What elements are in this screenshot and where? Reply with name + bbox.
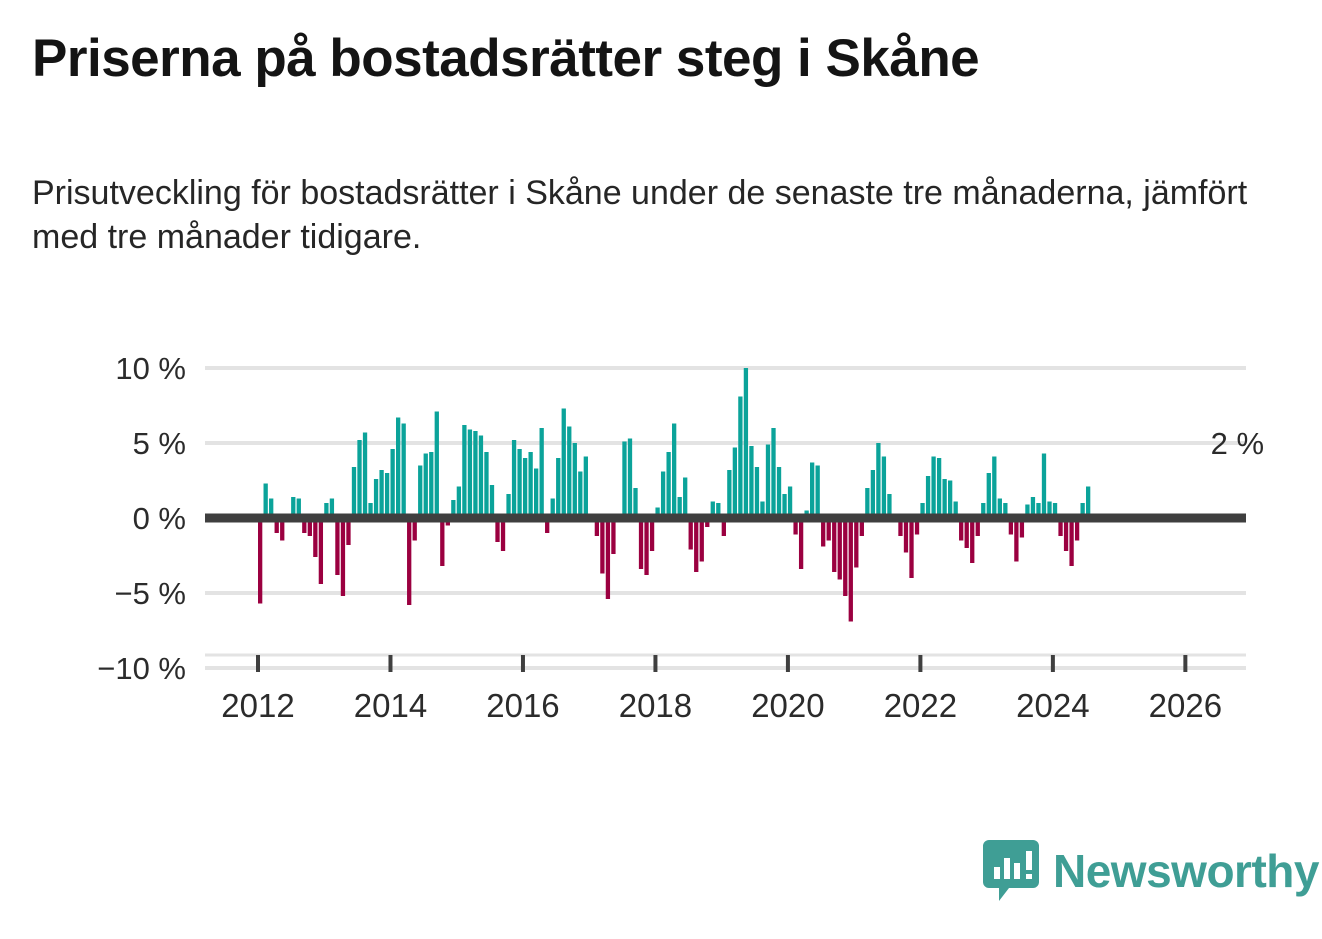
bar <box>435 412 439 519</box>
bar-series <box>258 368 1090 622</box>
bar <box>970 518 974 563</box>
bar <box>755 467 759 518</box>
bar <box>926 476 930 518</box>
bar <box>611 518 615 554</box>
bar <box>904 518 908 553</box>
bar <box>849 518 853 622</box>
bar <box>523 458 527 518</box>
bar <box>264 484 268 519</box>
bar <box>871 470 875 518</box>
bar <box>838 518 842 580</box>
bar <box>396 418 400 519</box>
x-axis-tick-label: 2018 <box>619 687 692 724</box>
x-axis-tick-label: 2016 <box>486 687 559 724</box>
bar-chart: 10 %5 %0 %−5 %−10 % 20122014201620182020… <box>0 330 1322 750</box>
bar <box>490 485 494 518</box>
bar <box>390 449 394 518</box>
bar <box>457 487 461 519</box>
bar <box>727 470 731 518</box>
x-axis-tick-label: 2026 <box>1149 687 1222 724</box>
bar <box>379 470 383 518</box>
bar <box>352 467 356 518</box>
bar <box>788 487 792 519</box>
bar <box>468 430 472 519</box>
logo-wordmark: Newsworthy <box>1053 848 1319 894</box>
bar <box>948 481 952 519</box>
bar <box>700 518 704 562</box>
bar <box>987 473 991 518</box>
y-axis-tick-label: −10 % <box>97 651 186 686</box>
bar <box>429 452 433 518</box>
bar <box>639 518 643 569</box>
bar <box>407 518 411 605</box>
bar <box>854 518 858 568</box>
bar <box>738 397 742 519</box>
bar <box>462 425 466 518</box>
bar <box>556 458 560 518</box>
bar <box>672 424 676 519</box>
x-axis-ticks: 20122014201620182020202220242026 <box>205 655 1246 724</box>
bar <box>666 452 670 518</box>
bar <box>385 473 389 518</box>
bar <box>937 458 941 518</box>
x-axis-tick-label: 2024 <box>1016 687 1089 724</box>
bar <box>573 443 577 518</box>
bar <box>1086 487 1090 519</box>
bar <box>816 466 820 519</box>
bar <box>650 518 654 551</box>
bar <box>341 518 345 596</box>
bar <box>1042 454 1046 519</box>
bar <box>418 466 422 519</box>
bar <box>799 518 803 569</box>
chart-svg: 10 %5 %0 %−5 %−10 % 20122014201620182020… <box>0 330 1322 750</box>
bar-chart-speech-bubble-icon <box>983 840 1039 902</box>
y-axis-ticks: 10 %5 %0 %−5 %−10 % <box>97 351 186 686</box>
bar <box>766 445 770 519</box>
bar <box>479 436 483 519</box>
bar <box>578 472 582 519</box>
bar <box>744 368 748 518</box>
y-axis-tick-label: 10 % <box>115 351 186 386</box>
bar <box>440 518 444 566</box>
bar <box>810 463 814 519</box>
bar <box>540 428 544 518</box>
bar <box>424 454 428 519</box>
bar <box>661 472 665 519</box>
bar <box>528 452 532 518</box>
x-axis-tick-label: 2022 <box>884 687 957 724</box>
bar <box>689 518 693 550</box>
bar <box>363 433 367 519</box>
x-axis-tick-label: 2014 <box>354 687 427 724</box>
bar <box>562 409 566 519</box>
bar <box>843 518 847 596</box>
bar <box>777 467 781 518</box>
bar <box>622 442 626 519</box>
bar <box>909 518 913 578</box>
bar <box>694 518 698 572</box>
bar <box>992 457 996 519</box>
chart-page: Priserna på bostadsrätter steg i Skåne P… <box>0 0 1322 939</box>
bar <box>644 518 648 575</box>
newsworthy-logo[interactable]: Newsworthy <box>983 840 1319 902</box>
bar <box>473 431 477 518</box>
bar <box>313 518 317 557</box>
bar <box>501 518 505 551</box>
value-annotation: 2 % <box>1211 426 1264 461</box>
bar <box>931 457 935 519</box>
bar <box>683 478 687 519</box>
bar <box>357 440 361 518</box>
bar <box>517 449 521 518</box>
bar <box>733 448 737 519</box>
bar <box>882 457 886 519</box>
bar <box>567 427 571 519</box>
bar <box>628 439 632 519</box>
y-axis-tick-label: 5 % <box>133 426 186 461</box>
page-title: Priserna på bostadsrätter steg i Skåne <box>32 30 979 87</box>
y-axis-tick-label: −5 % <box>114 576 186 611</box>
bar <box>749 446 753 518</box>
bar <box>1069 518 1073 566</box>
x-axis-tick-label: 2012 <box>221 687 294 724</box>
bar <box>402 424 406 519</box>
bar <box>374 479 378 518</box>
x-axis-tick-label: 2020 <box>751 687 824 724</box>
annotation-label: 2 % <box>1211 426 1264 461</box>
bar <box>335 518 339 575</box>
bar <box>512 440 516 518</box>
bar <box>1014 518 1018 562</box>
bar <box>584 457 588 519</box>
bar <box>534 469 538 519</box>
bar <box>942 479 946 518</box>
y-axis-tick-label: 0 % <box>133 501 186 536</box>
page-subtitle: Prisutveckling för bostadsrätter i Skåne… <box>32 172 1282 259</box>
bar <box>876 443 880 518</box>
bar <box>771 428 775 518</box>
bar <box>258 518 262 604</box>
bar <box>606 518 610 599</box>
bar <box>484 452 488 518</box>
bar <box>319 518 323 584</box>
bar <box>600 518 604 574</box>
bar <box>1064 518 1068 551</box>
bar <box>832 518 836 572</box>
